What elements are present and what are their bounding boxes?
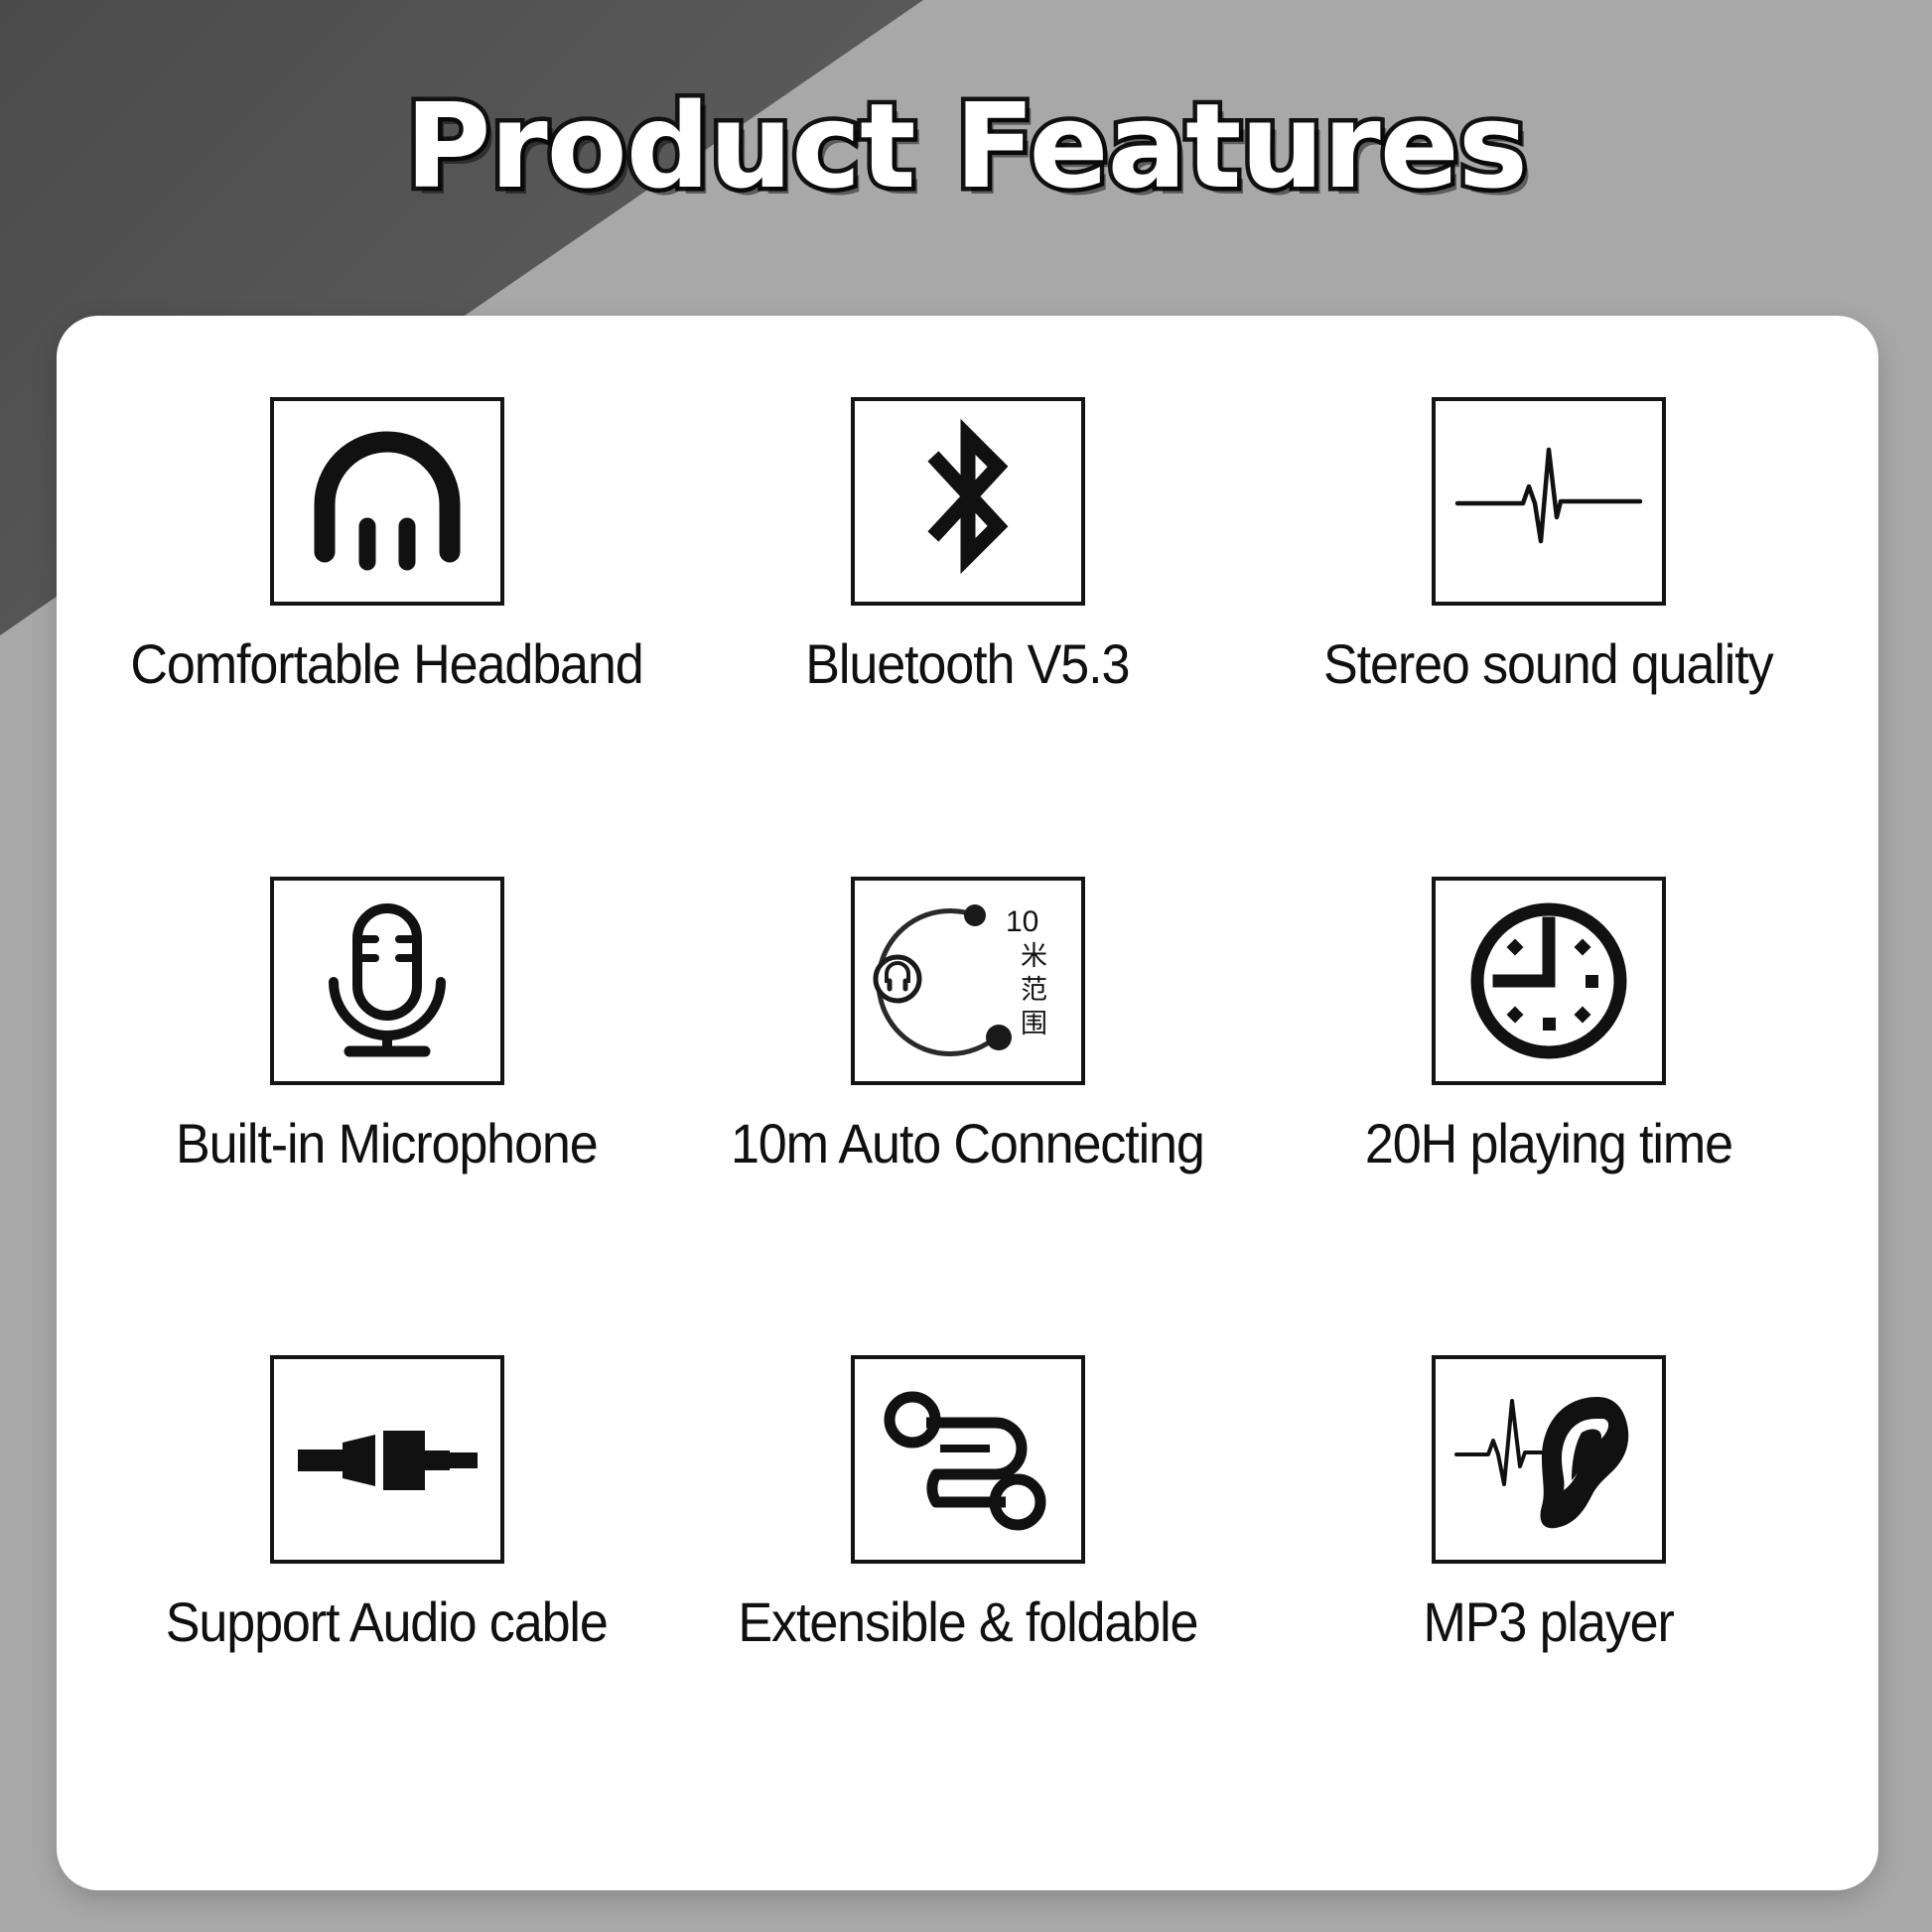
feature-label: Comfortable Headband bbox=[130, 635, 642, 694]
feature-label: MP3 player bbox=[1423, 1593, 1673, 1652]
icon-frame bbox=[270, 397, 504, 606]
feature-label: Stereo sound quality bbox=[1323, 635, 1773, 694]
feature-label: 20H playing time bbox=[1364, 1115, 1731, 1173]
svg-text:米: 米 bbox=[1021, 941, 1047, 972]
audio-plug-icon bbox=[288, 1405, 486, 1514]
clock-icon bbox=[1465, 897, 1632, 1064]
feature-item-playing-time: 20H playing time bbox=[1258, 877, 1839, 1356]
feature-item-built-in-microphone: Built-in Microphone bbox=[96, 877, 677, 1356]
icon-frame bbox=[851, 1355, 1085, 1564]
page-title: Product Features bbox=[405, 77, 1527, 214]
feature-item-extensible-foldable: Extensible & foldable bbox=[677, 1355, 1258, 1835]
feature-item-support-audio-cable: Support Audio cable bbox=[96, 1355, 677, 1835]
range-distance-text: 10 bbox=[1006, 905, 1038, 938]
features-grid: Comfortable Headband Bluetooth V5.3 bbox=[57, 316, 1878, 1890]
headphones-icon bbox=[303, 427, 472, 576]
feature-label: Bluetooth V5.3 bbox=[805, 635, 1129, 694]
icon-frame bbox=[1432, 1355, 1666, 1564]
feature-item-auto-connecting-range: 10 米 范 围 10m Auto Connecting bbox=[677, 877, 1258, 1356]
icon-frame bbox=[1432, 877, 1666, 1085]
icon-frame bbox=[1432, 397, 1666, 606]
icon-frame bbox=[270, 1355, 504, 1564]
wireless-range-icon: 10 米 范 围 bbox=[864, 892, 1072, 1070]
feature-label: Extensible & foldable bbox=[738, 1593, 1197, 1652]
feature-label: Built-in Microphone bbox=[176, 1115, 598, 1173]
feature-item-stereo-sound-quality: Stereo sound quality bbox=[1258, 397, 1839, 877]
foldable-cable-icon bbox=[879, 1385, 1057, 1534]
ear-waveform-icon bbox=[1447, 1375, 1650, 1544]
product-features-page: Product Features Comfortable Headband bbox=[0, 0, 1932, 1932]
feature-label: Support Audio cable bbox=[166, 1593, 608, 1652]
feature-item-bluetooth-version: Bluetooth V5.3 bbox=[677, 397, 1258, 877]
svg-text:围: 围 bbox=[1021, 1009, 1047, 1039]
page-title-container: Product Features bbox=[0, 77, 1932, 214]
icon-frame bbox=[851, 397, 1085, 606]
features-card: Comfortable Headband Bluetooth V5.3 bbox=[57, 316, 1878, 1890]
feature-label: 10m Auto Connecting bbox=[731, 1115, 1204, 1173]
waveform-icon bbox=[1449, 432, 1648, 571]
microphone-icon bbox=[308, 897, 467, 1065]
svg-text:范: 范 bbox=[1021, 975, 1047, 1006]
feature-item-comfortable-headband: Comfortable Headband bbox=[96, 397, 677, 877]
icon-frame bbox=[270, 877, 504, 1085]
bluetooth-icon bbox=[894, 417, 1042, 586]
feature-item-mp3-player: MP3 player bbox=[1258, 1355, 1839, 1835]
icon-frame: 10 米 范 围 bbox=[851, 877, 1085, 1085]
